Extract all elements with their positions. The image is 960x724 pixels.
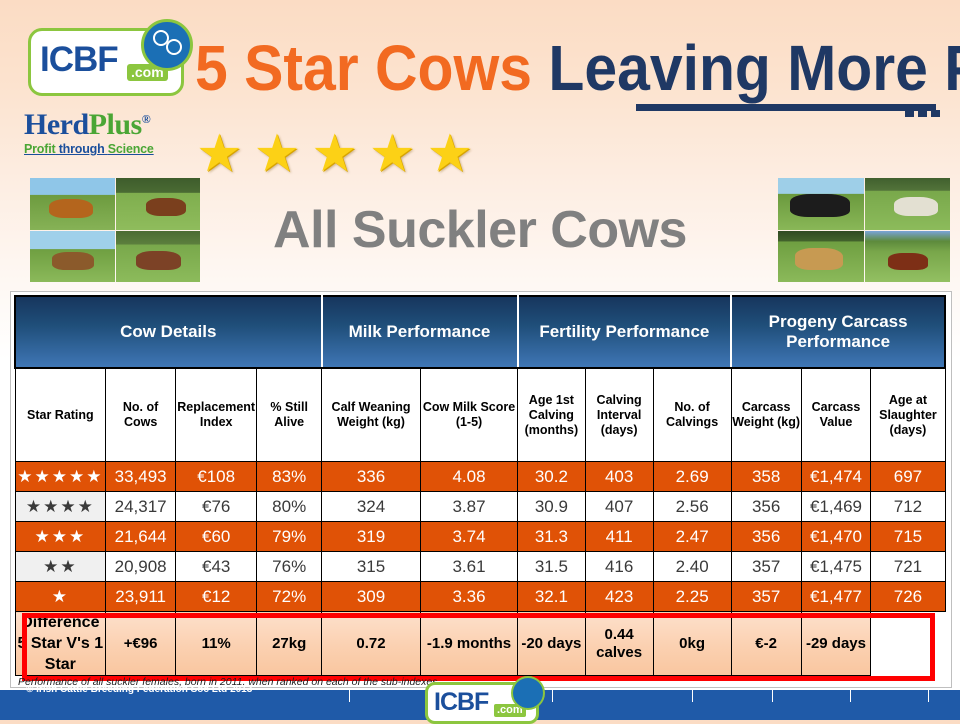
title-dots-decoration xyxy=(905,104,960,111)
table-cell: 357 xyxy=(731,552,801,582)
table-cell: 23,911 xyxy=(106,582,176,612)
table-cell: 3.36 xyxy=(421,582,518,612)
table-cell: 324 xyxy=(322,492,421,522)
herdplus-tagline: Profit through Science xyxy=(24,142,194,156)
difference-cell: +€96 xyxy=(106,612,176,676)
star-icon: ★ xyxy=(369,128,416,180)
column-group-header: Cow Details xyxy=(15,296,322,368)
table-cell: €108 xyxy=(176,462,257,492)
table-column-header-row: Star RatingNo. of CowsReplacement Index%… xyxy=(15,368,945,462)
star-rating-cell: ★★ xyxy=(15,552,106,582)
table-cell: €43 xyxy=(176,552,257,582)
page-title: 5 Star Cows Leaving More Profit xyxy=(195,28,894,110)
difference-cell: 11% xyxy=(176,612,257,676)
footer-icbf-logo: ICBF .com xyxy=(425,682,539,724)
table-cell: 715 xyxy=(871,522,945,552)
icbf-logo-text: ICBF xyxy=(40,39,118,81)
table-cell: €60 xyxy=(176,522,257,552)
star-icon: ★ xyxy=(427,128,474,180)
tagline-through: through xyxy=(55,142,107,156)
table-row: ★★★★★33,493€10883%3364.0830.24032.69358€… xyxy=(15,462,945,492)
table-cell: 3.61 xyxy=(421,552,518,582)
column-header: Calf Weaning Weight (kg) xyxy=(322,368,421,462)
copyright-text: © Irish Cattle Breeding Federation Soc L… xyxy=(26,684,252,695)
globe-icon xyxy=(141,19,193,71)
table-cell: 32.1 xyxy=(518,582,586,612)
table-row: ★★★★24,317€7680%3243.8730.94072.56356€1,… xyxy=(15,492,945,522)
tagline-science: Science xyxy=(108,142,154,156)
table-cell: 403 xyxy=(585,462,653,492)
table-cell: 31.3 xyxy=(518,522,586,552)
table-cell: 356 xyxy=(731,492,801,522)
icbf-logo: ICBF .com xyxy=(28,28,184,96)
difference-cell: 0kg xyxy=(653,612,731,676)
table-cell: 2.47 xyxy=(653,522,731,552)
table-cell: €1,470 xyxy=(801,522,871,552)
table-cell: 315 xyxy=(322,552,421,582)
table-cell: 411 xyxy=(585,522,653,552)
table-cell: €1,475 xyxy=(801,552,871,582)
table-cell: 416 xyxy=(585,552,653,582)
table-cell: 30.2 xyxy=(518,462,586,492)
column-header: No. of Calvings xyxy=(653,368,731,462)
difference-cell: -29 days xyxy=(801,612,871,676)
table-cell: 697 xyxy=(871,462,945,492)
table-cell: €1,474 xyxy=(801,462,871,492)
table-cell: 309 xyxy=(322,582,421,612)
star-icon: ★ xyxy=(254,128,301,180)
column-header: No. of Cows xyxy=(106,368,176,462)
table-cell: 2.40 xyxy=(653,552,731,582)
globe-icon xyxy=(511,676,545,710)
table-cell: 336 xyxy=(322,462,421,492)
star-rating-cell: ★★★★ xyxy=(15,492,106,522)
table-cell: 726 xyxy=(871,582,945,612)
table-cell: €12 xyxy=(176,582,257,612)
footer-logo-text: ICBF xyxy=(434,688,488,717)
table-cell: 407 xyxy=(585,492,653,522)
column-header: Replacement Index xyxy=(176,368,257,462)
table-cell: 423 xyxy=(585,582,653,612)
column-header: Carcass Value xyxy=(801,368,871,462)
title-navy-part: Leaving More Profit xyxy=(532,32,960,104)
column-header: Age at Slaughter (days) xyxy=(871,368,945,462)
difference-cell: €-2 xyxy=(731,612,801,676)
table-cell: 33,493 xyxy=(106,462,176,492)
table-cell: 24,317 xyxy=(106,492,176,522)
table-cell: 3.87 xyxy=(421,492,518,522)
table-row: ★★★21,644€6079%3193.7431.34112.47356€1,4… xyxy=(15,522,945,552)
table-cell: 358 xyxy=(731,462,801,492)
star-rating-cell: ★★★★★ xyxy=(15,462,106,492)
column-group-header: Milk Performance xyxy=(322,296,518,368)
table-cell: 31.5 xyxy=(518,552,586,582)
column-header: Calving Interval (days) xyxy=(585,368,653,462)
difference-cell: -1.9 months xyxy=(421,612,518,676)
table-cell: 721 xyxy=(871,552,945,582)
registered-mark-icon: ® xyxy=(142,112,150,126)
herdplus-name-b: Plus xyxy=(89,108,142,141)
herdplus-logo: HerdPlus® Profit through Science xyxy=(24,103,194,156)
column-header: Cow Milk Score (1-5) xyxy=(421,368,518,462)
star-icon: ★ xyxy=(196,128,243,180)
table-cell: 21,644 xyxy=(106,522,176,552)
herdplus-wordmark: HerdPlus® xyxy=(24,103,194,141)
table-cell: 2.25 xyxy=(653,582,731,612)
column-header: Age 1st Calving (months) xyxy=(518,368,586,462)
table-cell: 30.9 xyxy=(518,492,586,522)
title-underline xyxy=(636,104,936,111)
table-cell: 76% xyxy=(257,552,322,582)
table-cell: 72% xyxy=(257,582,322,612)
table-cell: €1,469 xyxy=(801,492,871,522)
difference-cell: 0.44 calves xyxy=(585,612,653,676)
table-row: ★23,911€1272%3093.3632.14232.25357€1,477… xyxy=(15,582,945,612)
table-cell: 3.74 xyxy=(421,522,518,552)
column-header: % Still Alive xyxy=(257,368,322,462)
table-cell: 79% xyxy=(257,522,322,552)
table-row: ★★20,908€4376%3153.6131.54162.40357€1,47… xyxy=(15,552,945,582)
performance-table: Cow DetailsMilk PerformanceFertility Per… xyxy=(14,295,946,676)
page-header: ICBF .com HerdPlus® Profit through Scien… xyxy=(0,0,960,180)
column-group-header: Progeny Carcass Performance xyxy=(731,296,945,368)
table-cell: 20,908 xyxy=(106,552,176,582)
difference-cell: 0.72 xyxy=(322,612,421,676)
subtitle: All Suckler Cows xyxy=(0,200,960,260)
herdplus-name-a: Herd xyxy=(24,108,89,141)
column-header: Carcass Weight (kg) xyxy=(731,368,801,462)
table-cell: 712 xyxy=(871,492,945,522)
table-cell: 4.08 xyxy=(421,462,518,492)
star-rating-cell: ★ xyxy=(15,582,106,612)
table-group-header-row: Cow DetailsMilk PerformanceFertility Per… xyxy=(15,296,945,368)
table-cell: 319 xyxy=(322,522,421,552)
header-star-rating: ★★★★★ xyxy=(196,128,516,180)
difference-cell: -20 days xyxy=(518,612,586,676)
difference-row: Difference5 Star V's 1 Star+€9611%27kg0.… xyxy=(15,612,945,676)
table-cell: 357 xyxy=(731,582,801,612)
table-cell: €1,477 xyxy=(801,582,871,612)
star-icon: ★ xyxy=(311,128,358,180)
difference-cell: 27kg xyxy=(257,612,322,676)
title-orange-part: 5 Star Cows xyxy=(195,32,532,104)
column-header: Star Rating xyxy=(15,368,106,462)
table-cell: 83% xyxy=(257,462,322,492)
table-cell: 2.69 xyxy=(653,462,731,492)
table-cell: 2.56 xyxy=(653,492,731,522)
star-rating-cell: ★★★ xyxy=(15,522,106,552)
difference-label: Difference5 Star V's 1 Star xyxy=(15,612,106,676)
tagline-profit: Profit xyxy=(24,142,55,156)
table-cell: €76 xyxy=(176,492,257,522)
table-cell: 80% xyxy=(257,492,322,522)
table-cell: 356 xyxy=(731,522,801,552)
column-group-header: Fertility Performance xyxy=(518,296,732,368)
